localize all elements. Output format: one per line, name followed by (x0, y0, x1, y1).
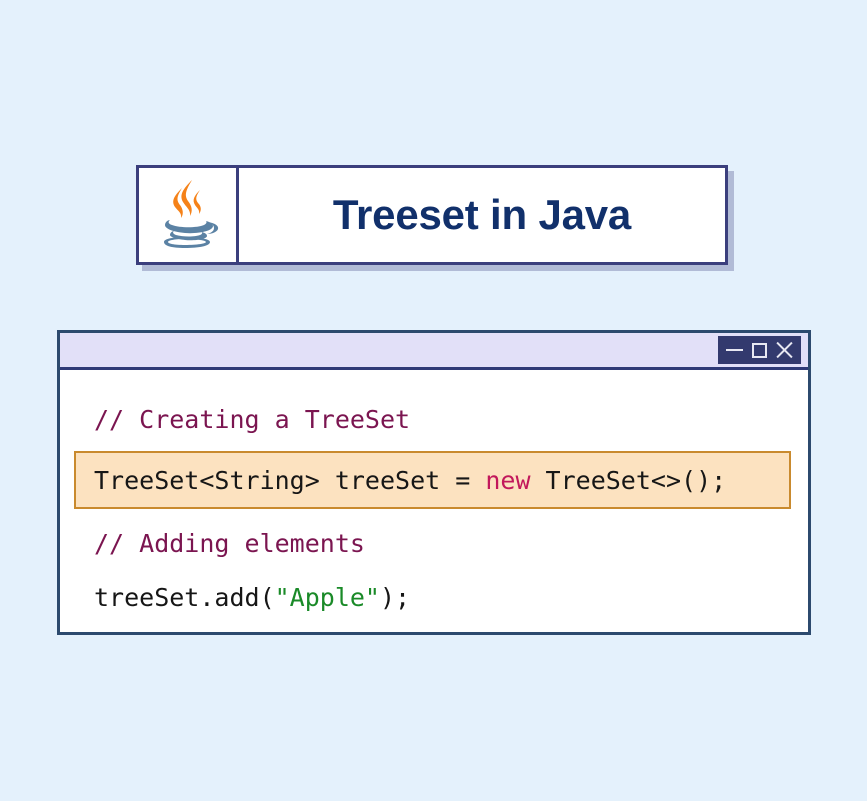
code-body: // Creating a TreeSet TreeSet<String> tr… (60, 370, 808, 632)
code-line-highlighted[interactable]: TreeSet<String> treeSet = new TreeSet<>(… (74, 451, 791, 509)
code-line-comment-adding: // Adding elements (60, 516, 808, 570)
close-button[interactable] (776, 342, 793, 359)
title-plaque: Treeset in Java (136, 165, 728, 265)
code-segment-call: treeSet.add( (94, 585, 275, 610)
code-segment-string: "Apple" (275, 585, 380, 610)
minimize-button[interactable] (726, 349, 743, 351)
code-segment-plain-2: TreeSet<>(); (531, 468, 727, 493)
code-segment-plain: TreeSet<String> treeSet = (94, 468, 485, 493)
code-segment-keyword: new (485, 468, 530, 493)
code-line-add-apple: treeSet.add("Apple"); (60, 570, 808, 624)
java-logo-cell (139, 168, 239, 262)
code-line-comment-creating: // Creating a TreeSet (60, 392, 808, 446)
title-cell: Treeset in Java (239, 168, 725, 262)
maximize-button[interactable] (752, 343, 767, 358)
window-titlebar (60, 333, 808, 370)
window-controls (718, 336, 801, 364)
page-title: Treeset in Java (333, 191, 631, 239)
java-logo-icon (152, 176, 224, 254)
code-segment-close: ); (380, 585, 410, 610)
code-window: // Creating a TreeSet TreeSet<String> tr… (57, 330, 811, 635)
